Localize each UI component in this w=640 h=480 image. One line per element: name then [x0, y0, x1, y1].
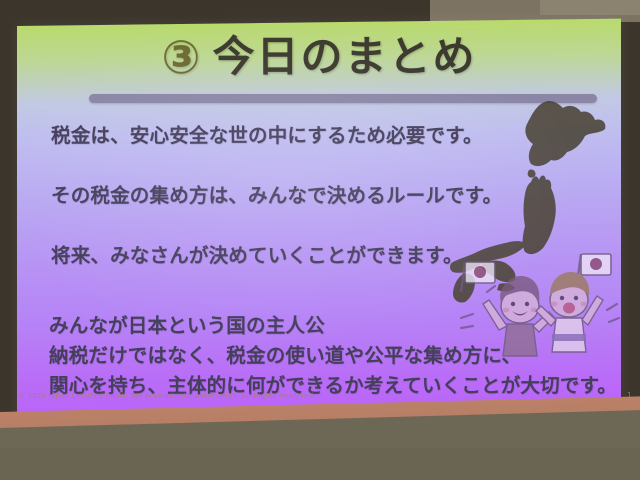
- projected-slide-photo: ③ 今日のまとめ: [0, 0, 640, 480]
- page-number: 1: [627, 391, 632, 400]
- body-paragraph-2: その税金の集め方は、みんなで決めるルールです。: [51, 184, 502, 207]
- body-paragraph-1: 税金は、安心安全な世の中にするため必要です。: [51, 124, 483, 147]
- page-title: 今日のまとめ: [212, 35, 476, 79]
- child-right: [536, 272, 603, 352]
- body-paragraph-3: 将来、みなさんが決めていくことができます。: [51, 244, 463, 267]
- closing-line-1: みんなが日本という国の主人公: [49, 314, 325, 337]
- copyright-footer: © 2024 Japan Certified Public Tax Accoun…: [18, 392, 498, 400]
- room-floor: [0, 448, 640, 480]
- japan-flag-left: [461, 262, 495, 292]
- title-number-badge: ③: [162, 34, 201, 80]
- room-wall-top-highlight: [540, 0, 640, 15]
- presentation-slide: ③ 今日のまとめ: [17, 19, 621, 418]
- children-illustration: [457, 248, 621, 388]
- closing-line-2: 納税だけではなく、税金の使い道や公平な集め方に、: [49, 344, 521, 367]
- slide-title: ③ 今日のまとめ: [17, 34, 621, 80]
